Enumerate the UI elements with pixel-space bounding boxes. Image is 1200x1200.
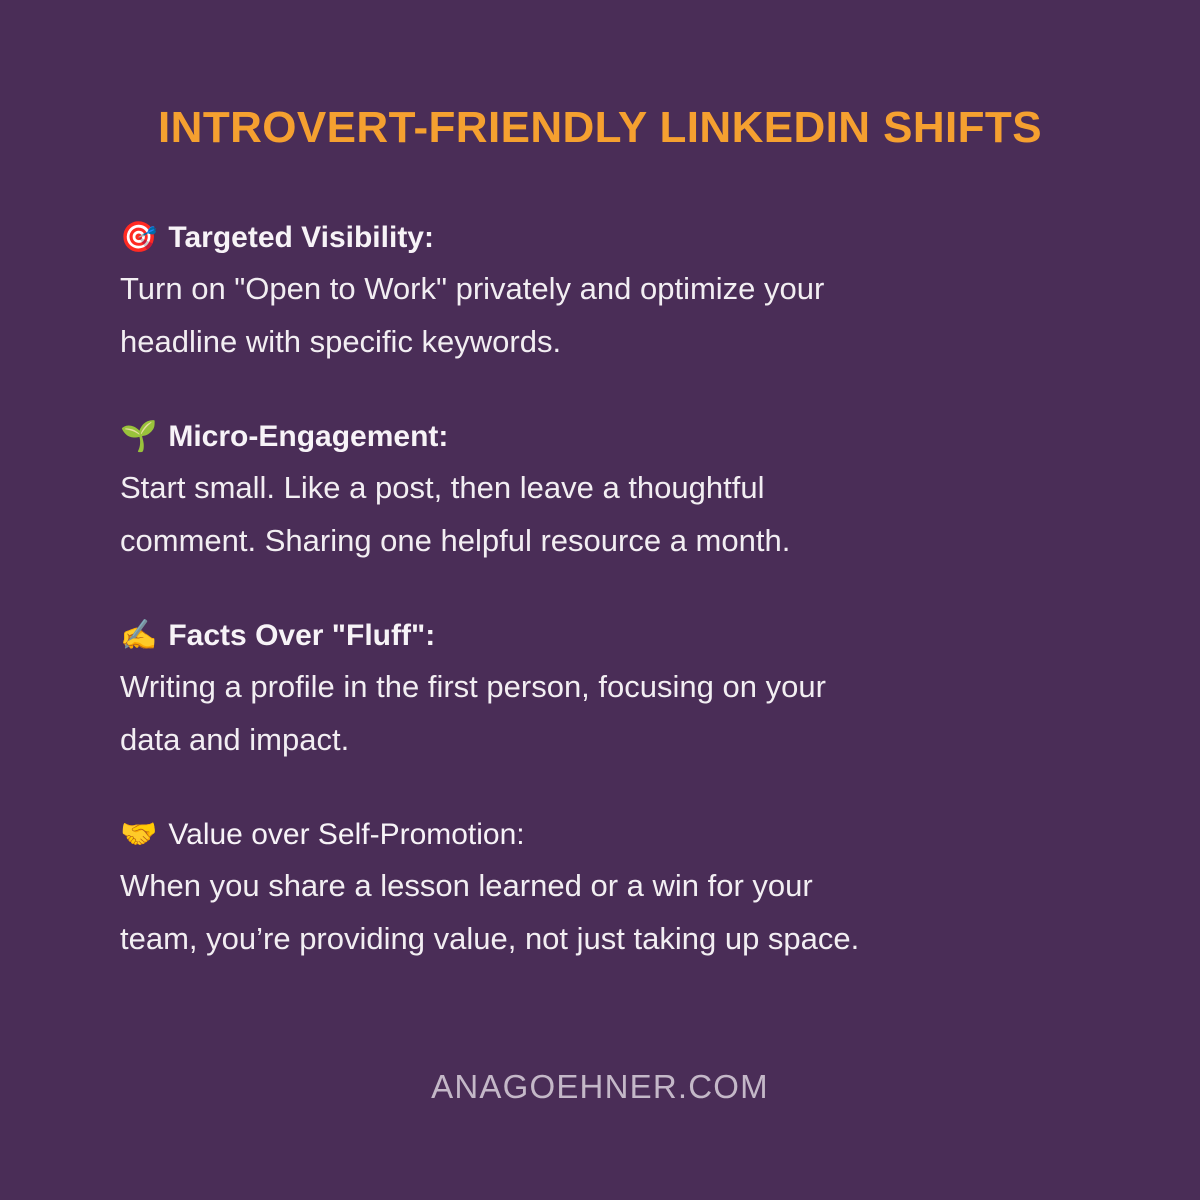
- list-item: 🤝 Value over Self-Promotion: When you sh…: [120, 813, 1100, 965]
- section-heading-label: Facts Over "Fluff":: [168, 614, 435, 658]
- body-line: Writing a profile in the first person, f…: [120, 660, 1070, 713]
- section-heading: 🤝 Value over Self-Promotion:: [120, 813, 1100, 857]
- section-body: Turn on "Open to Work" privately and opt…: [120, 262, 1070, 368]
- body-line: team, you’re providing value, not just t…: [120, 912, 1070, 965]
- section-heading: ✍️ Facts Over "Fluff":: [120, 614, 1100, 658]
- body-line: headline with specific keywords.: [120, 315, 1070, 368]
- section-heading: 🎯 Targeted Visibility:: [120, 216, 1100, 260]
- page-title: INTROVERT-FRIENDLY LINKEDIN SHIFTS: [0, 104, 1200, 152]
- direct-hit-target-icon: 🎯: [120, 216, 157, 260]
- footer-website: ANAGOEHNER.COM: [0, 1068, 1200, 1106]
- body-line: Start small. Like a post, then leave a t…: [120, 461, 1070, 514]
- tips-list: 🎯 Targeted Visibility: Turn on "Open to …: [120, 216, 1100, 965]
- body-line: When you share a lesson learned or a win…: [120, 859, 1070, 912]
- body-line: comment. Sharing one helpful resource a …: [120, 514, 1070, 567]
- infographic-card: INTROVERT-FRIENDLY LINKEDIN SHIFTS 🎯 Tar…: [0, 0, 1200, 1200]
- section-body: When you share a lesson learned or a win…: [120, 859, 1070, 965]
- section-heading-label: Micro-Engagement:: [168, 415, 448, 459]
- section-body: Start small. Like a post, then leave a t…: [120, 461, 1070, 567]
- list-item: ✍️ Facts Over "Fluff": Writing a profile…: [120, 614, 1100, 766]
- section-heading-label: Targeted Visibility:: [168, 216, 434, 260]
- section-heading-label: Value over Self-Promotion:: [168, 813, 524, 857]
- writing-hand-icon: ✍️: [120, 614, 157, 658]
- list-item: 🌱 Micro-Engagement: Start small. Like a …: [120, 415, 1100, 567]
- seedling-icon: 🌱: [120, 415, 157, 459]
- handshake-icon: 🤝: [120, 813, 157, 857]
- body-line: data and impact.: [120, 713, 1070, 766]
- section-body: Writing a profile in the first person, f…: [120, 660, 1070, 766]
- body-line: Turn on "Open to Work" privately and opt…: [120, 262, 1070, 315]
- section-heading: 🌱 Micro-Engagement:: [120, 415, 1100, 459]
- list-item: 🎯 Targeted Visibility: Turn on "Open to …: [120, 216, 1100, 368]
